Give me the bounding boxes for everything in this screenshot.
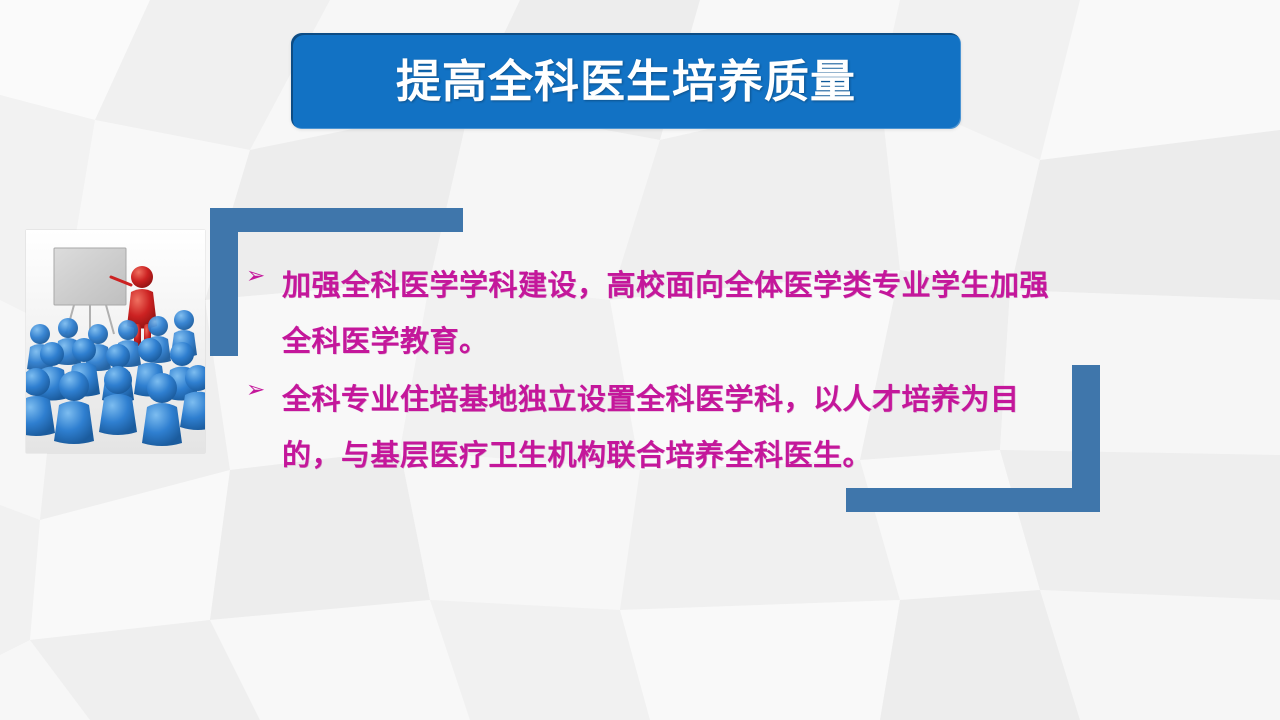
slide-canvas: 提高全科医生培养质量: [0, 0, 1280, 720]
bracket-top-left-horizontal: [210, 208, 463, 232]
bullet-list: ➢ 加强全科医学学科建设，高校面向全体医学类专业学生加强全科医学教育。 ➢ 全科…: [246, 258, 1076, 486]
bracket-bottom-right-horizontal: [846, 488, 1100, 512]
bracket-top-left-vertical: [210, 208, 238, 356]
list-item: ➢ 全科专业住培基地独立设置全科医学科，以人才培养为目的，与基层医疗卫生机构联合…: [246, 372, 1076, 484]
lecture-audience-image: [26, 230, 205, 453]
arrow-bullet-icon: ➢: [246, 258, 282, 287]
list-item-text: 加强全科医学学科建设，高校面向全体医学类专业学生加强全科医学教育。: [282, 258, 1076, 370]
list-item-text: 全科专业住培基地独立设置全科医学科，以人才培养为目的，与基层医疗卫生机构联合培养…: [282, 372, 1076, 484]
slide-title-bar: 提高全科医生培养质量: [291, 33, 961, 129]
lecture-audience-illustration: [26, 230, 205, 453]
list-item: ➢ 加强全科医学学科建设，高校面向全体医学类专业学生加强全科医学教育。: [246, 258, 1076, 370]
page-title: 提高全科医生培养质量: [396, 59, 856, 104]
arrow-bullet-icon: ➢: [246, 372, 282, 401]
